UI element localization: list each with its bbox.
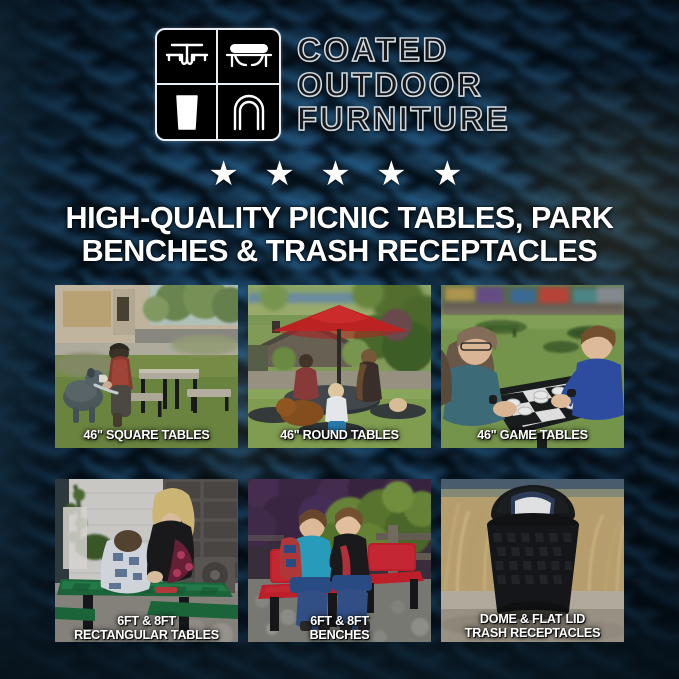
- caption-line-1: 6FT & 8FT: [310, 614, 369, 628]
- caption-line-1: 46" ROUND TABLES: [280, 428, 399, 442]
- product-caption: 46" SQUARE TABLES: [57, 429, 236, 442]
- product-photo-game-tables: [441, 285, 624, 448]
- caption-line-2: BENCHES: [250, 629, 429, 642]
- page-title: HIGH-QUALITY PICNIC TABLES, PARK BENCHES…: [38, 202, 641, 268]
- brand-word-furniture: FURNITURE: [297, 102, 510, 136]
- caption-line-1: 6FT & 8FT: [117, 614, 176, 628]
- product-caption: DOME & FLAT LID TRASH RECEPTACLES: [443, 613, 622, 640]
- product-grid: 46" SQUARE TABLES: [55, 285, 625, 642]
- product-photo-round-tables: [248, 285, 431, 448]
- product-caption: 6FT & 8FT BENCHES: [250, 615, 429, 642]
- product-photo-square-tables: [55, 285, 238, 448]
- product-tile-square-tables[interactable]: 46" SQUARE TABLES: [55, 285, 238, 448]
- headline-line-2: BENCHES & TRASH RECEPTACLES: [38, 235, 641, 268]
- star-rating: ★ ★ ★ ★ ★: [0, 157, 679, 191]
- product-tile-rectangular-tables[interactable]: 6FT & 8FT RECTANGULAR TABLES: [55, 479, 238, 642]
- caption-line-2: TRASH RECEPTACLES: [443, 627, 622, 640]
- brand-wordmark: COATED OUTDOOR FURNITURE: [297, 33, 510, 136]
- brand-lockup: COATED OUTDOOR FURNITURE: [155, 28, 510, 141]
- brand-word-outdoor: OUTDOOR: [297, 68, 510, 102]
- product-tile-round-tables[interactable]: 46" ROUND TABLES: [248, 285, 431, 448]
- bike-rack-icon: [218, 85, 279, 140]
- trash-receptacle-icon: [157, 85, 218, 140]
- product-caption: 46" ROUND TABLES: [250, 429, 429, 442]
- caption-line-1: 46" SQUARE TABLES: [83, 428, 209, 442]
- product-tile-game-tables[interactable]: 46" GAME TABLES: [441, 285, 624, 448]
- banner-header: COATED OUTDOOR FURNITURE ★ ★ ★ ★ ★ HIGH-…: [0, 0, 679, 278]
- bench-icon: [218, 30, 279, 85]
- brand-logo-mark: [155, 28, 281, 141]
- caption-line-1: DOME & FLAT LID: [480, 612, 585, 626]
- picnic-table-icon: [157, 30, 218, 85]
- promo-banner: COATED OUTDOOR FURNITURE ★ ★ ★ ★ ★ HIGH-…: [0, 0, 679, 679]
- brand-word-coated: COATED: [297, 33, 510, 67]
- product-caption: 6FT & 8FT RECTANGULAR TABLES: [57, 615, 236, 642]
- product-caption: 46" GAME TABLES: [443, 429, 622, 442]
- headline-line-1: HIGH-QUALITY PICNIC TABLES, PARK: [65, 201, 613, 235]
- caption-line-1: 46" GAME TABLES: [477, 428, 587, 442]
- caption-line-2: RECTANGULAR TABLES: [57, 629, 236, 642]
- product-tile-trash-receptacles[interactable]: DOME & FLAT LID TRASH RECEPTACLES: [441, 479, 624, 642]
- product-tile-benches[interactable]: 6FT & 8FT BENCHES: [248, 479, 431, 642]
